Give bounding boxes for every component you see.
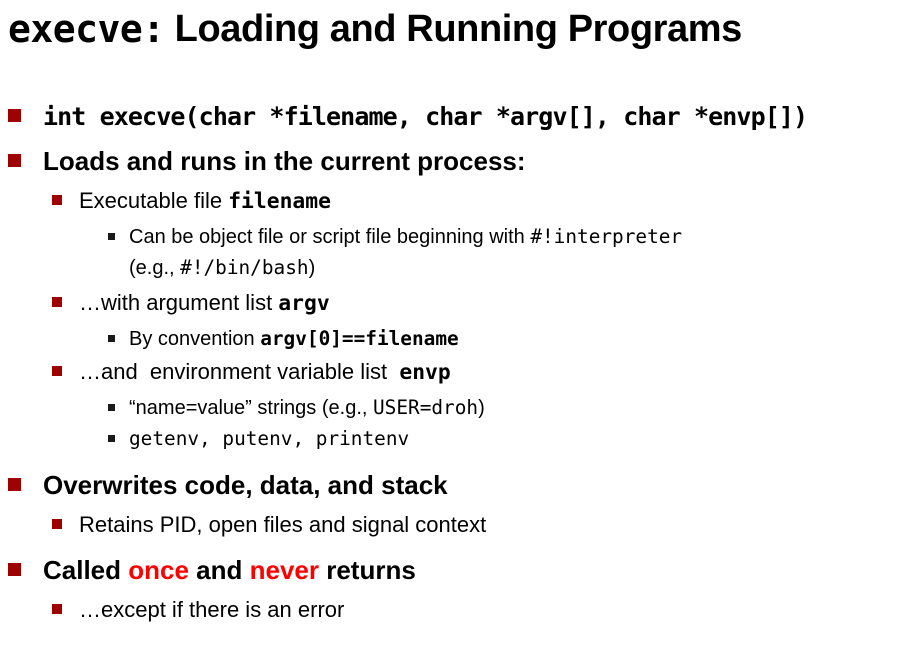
by-convention-label: By convention: [129, 328, 260, 350]
list-item-overwrites: Overwrites code, data, and stack: [0, 466, 905, 507]
can-be-object-code: #!interpreter: [530, 225, 682, 248]
list-item-by-convention: By convention argv[0]==filename: [0, 323, 905, 354]
name-value-close: ): [478, 397, 485, 419]
called-once-line: Called once and never returns: [43, 551, 416, 589]
list-item-with-arglist: …with argument list argv: [0, 285, 905, 323]
executable-file-label: Executable file: [79, 188, 228, 213]
square-bullet-icon: [8, 563, 21, 576]
list-item-loads-and-runs: Loads and runs in the current process:: [0, 142, 905, 183]
list-item-env-functions: getenv, putenv, printenv: [0, 423, 905, 454]
executable-file-line: Executable file filename: [79, 183, 331, 220]
list-item-and-envlist: …and environment variable list envp: [0, 354, 905, 392]
and-envlist-code: envp: [399, 360, 450, 385]
signature-text: int execve(char *filename, char *argv[],…: [43, 98, 807, 136]
list-item-executable-file: Executable file filename: [0, 183, 905, 221]
can-be-object-label: Can be object file or script file beginn…: [129, 226, 530, 248]
list-item-except-error: …except if there is an error: [0, 592, 905, 630]
name-value-label: “name=value” strings (e.g.,: [129, 397, 373, 419]
square-bullet-icon: [8, 154, 21, 167]
list-item-retains: Retains PID, open files and signal conte…: [0, 507, 905, 545]
called-never-emphasis: never: [250, 555, 319, 585]
square-bullet-icon: [52, 297, 62, 307]
overwrites-text: Overwrites code, data, and stack: [43, 466, 448, 504]
executable-file-code: filename: [228, 189, 331, 214]
square-bullet-icon: [108, 404, 115, 411]
name-value-line: “name=value” strings (e.g., USER=droh): [129, 392, 485, 424]
list-item-eg-bash-continuation: (e.g., #!/bin/bash): [0, 252, 905, 285]
retains-text: Retains PID, open files and signal conte…: [79, 507, 486, 543]
name-value-code: USER=droh: [373, 396, 478, 419]
except-error-text: …except if there is an error: [79, 592, 344, 628]
eg-bash-line: (e.g., #!/bin/bash): [0, 252, 315, 284]
title-rest-part: Loading and Running Programs: [175, 8, 742, 51]
called-prefix: Called: [43, 555, 128, 585]
list-item-signature: int execve(char *filename, char *argv[],…: [0, 98, 905, 142]
slide-canvas: execve:Loading and Running Programs int …: [0, 0, 905, 648]
list-item-called-once: Called once and never returns: [0, 551, 905, 592]
title-mono-part: execve:: [8, 7, 165, 51]
with-arglist-code: argv: [278, 291, 329, 316]
eg-bash-code: #!/bin/bash: [180, 256, 308, 279]
square-bullet-icon: [108, 335, 115, 342]
env-functions-line: getenv, putenv, printenv: [129, 423, 409, 455]
can-be-object-line: Can be object file or script file beginn…: [129, 221, 682, 253]
called-middle: and: [189, 555, 250, 585]
square-bullet-icon: [52, 366, 62, 376]
list-item-name-value: “name=value” strings (e.g., USER=droh): [0, 392, 905, 423]
and-envlist-label: …and environment variable list: [79, 359, 399, 384]
list-item-can-be-object-file: Can be object file or script file beginn…: [0, 221, 905, 252]
square-bullet-icon: [108, 435, 115, 442]
by-convention-code: argv[0]==filename: [260, 327, 458, 350]
called-once-emphasis: once: [128, 555, 189, 585]
square-bullet-icon: [52, 195, 62, 205]
by-convention-line: By convention argv[0]==filename: [129, 323, 459, 355]
with-arglist-line: …with argument list argv: [79, 285, 330, 322]
eg-bash-label: (e.g.,: [129, 257, 180, 279]
square-bullet-icon: [52, 519, 62, 529]
square-bullet-icon: [52, 604, 62, 614]
and-envlist-line: …and environment variable list envp: [79, 354, 451, 391]
called-suffix: returns: [319, 555, 416, 585]
eg-bash-close: ): [309, 257, 316, 279]
with-arglist-label: …with argument list: [79, 290, 278, 315]
slide-body: int execve(char *filename, char *argv[],…: [0, 98, 905, 630]
square-bullet-icon: [108, 233, 115, 240]
page-title: execve:Loading and Running Programs: [8, 2, 897, 56]
square-bullet-icon: [8, 478, 21, 491]
env-functions-code: getenv, putenv, printenv: [129, 427, 409, 450]
square-bullet-icon: [8, 109, 21, 122]
loads-and-runs-text: Loads and runs in the current process:: [43, 142, 526, 180]
